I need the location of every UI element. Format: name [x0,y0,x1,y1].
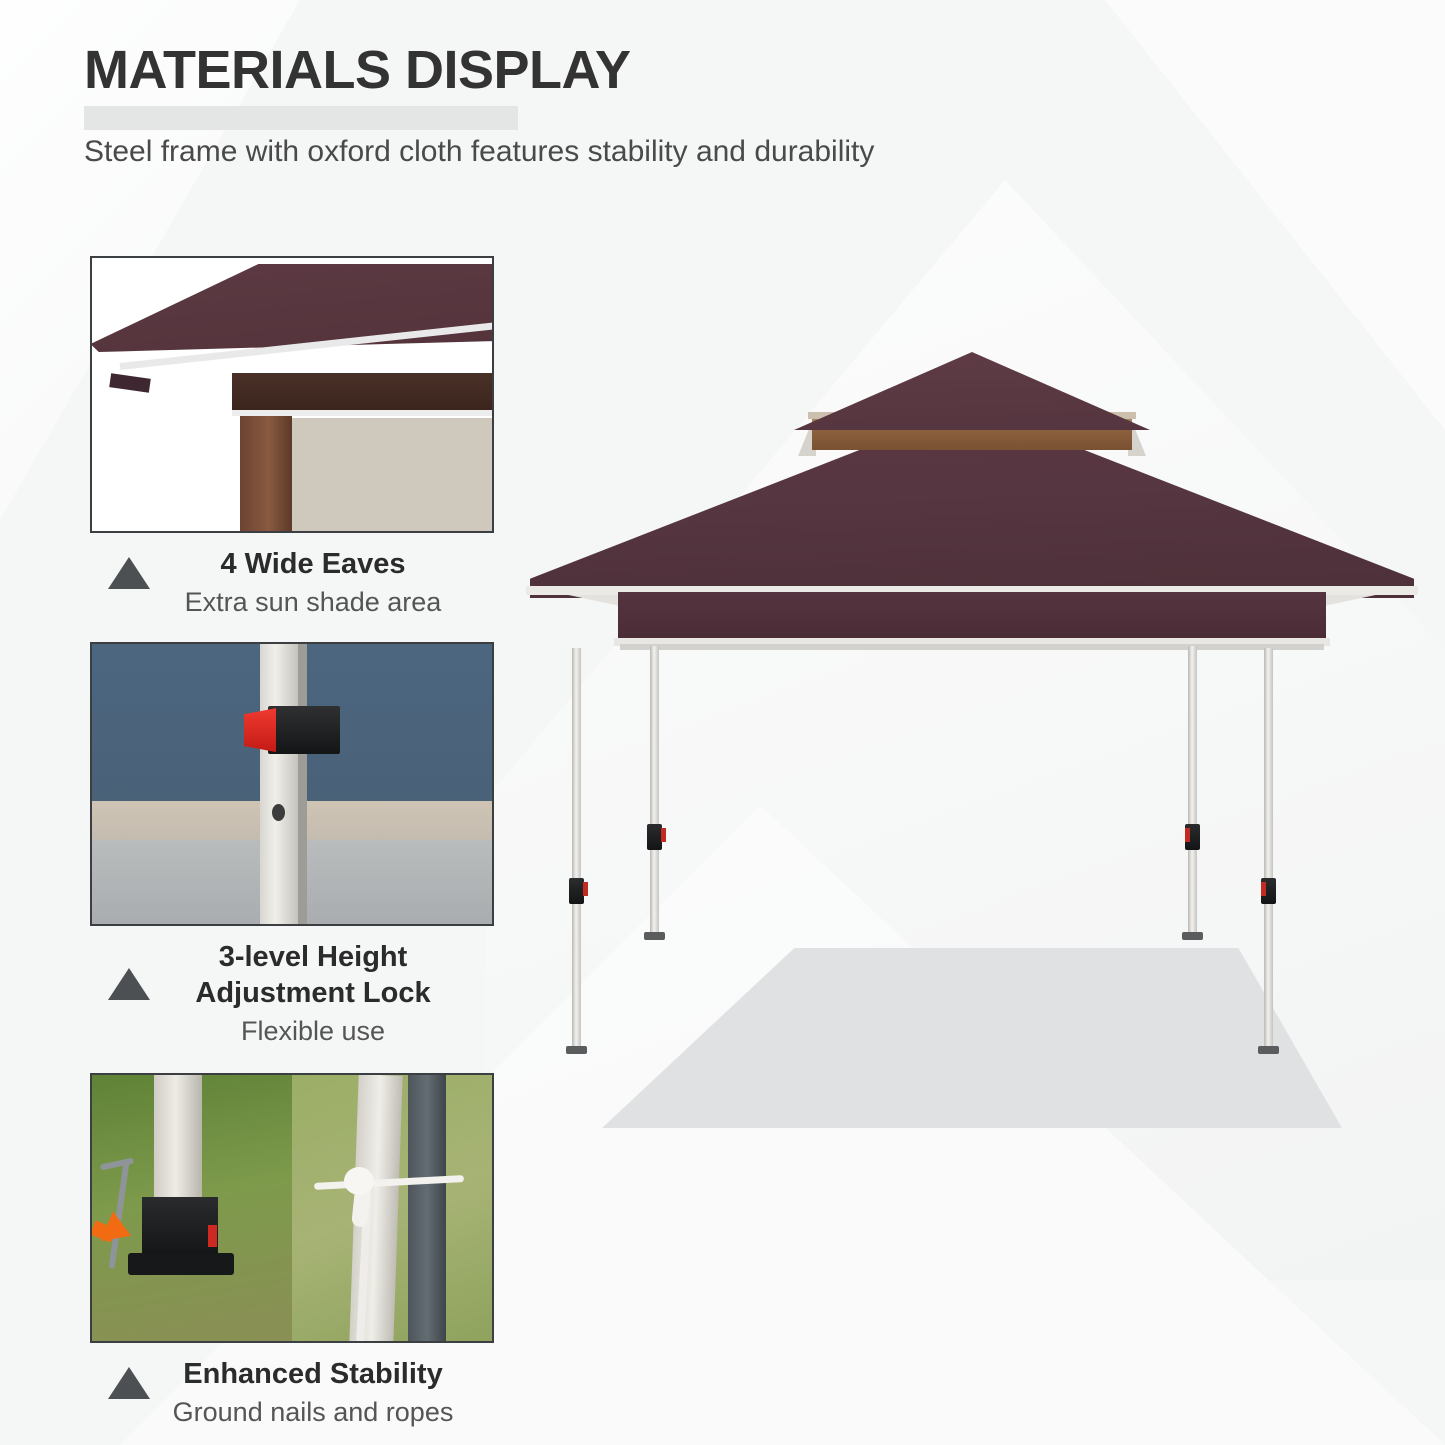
feature-subtitle: Extra sun shade area [90,586,494,620]
feature-list: 4 Wide Eaves Extra sun shade area 3-leve… [90,256,494,1430]
feature-item-enhanced-stability: Enhanced Stability Ground nails and rope… [90,1073,494,1430]
leg-adjustment-hole [272,804,285,821]
gazebo-leg-rear-left [650,646,659,936]
title-accent-bar [84,106,518,130]
lock-housing [268,706,340,754]
lock-red-lever-rear-left [661,828,666,842]
feature-subtitle: Flexible use [90,1015,494,1049]
gazebo-leg-front-right [1264,648,1273,1050]
feature-subtitle: Ground nails and ropes [90,1396,494,1430]
page-subtitle: Steel frame with oxford cloth features s… [84,135,874,169]
red-lock-lever-icon [244,708,276,752]
foot-red-tab [208,1225,217,1247]
feature-caption-enhanced-stability: Enhanced Stability Ground nails and rope… [90,1343,494,1430]
triangle-up-icon [108,968,150,1000]
leg-foot-housing [142,1197,218,1259]
guy-rope-pole-dark [408,1075,446,1343]
canopy-valance [618,592,1326,640]
leg-base-plate [128,1253,234,1275]
leg-foot-front-right [1258,1046,1279,1054]
steel-leg-edge [298,644,307,926]
feature-thumbnail-height-lock[interactable] [90,642,494,926]
page-title: MATERIALS DISPLAY [84,42,631,99]
gazebo-leg-bottom [154,1075,202,1207]
guy-rope-knot [344,1167,374,1195]
height-lock-front-left [569,878,584,904]
height-lock-rear-left [647,824,662,850]
feature-item-wide-eaves: 4 Wide Eaves Extra sun shade area [90,256,494,620]
canopy-valance-band [232,373,494,413]
lock-red-lever-front-right [1261,882,1266,896]
title-wrapper: MATERIALS DISPLAY [84,42,631,99]
feature-caption-wide-eaves: 4 Wide Eaves Extra sun shade area [90,533,494,620]
feature-thumbnail-wide-eaves[interactable] [90,256,494,533]
leg-foot-front-left [566,1046,587,1054]
feature-item-height-lock: 3-level Height Adjustment Lock Flexible … [90,642,494,1049]
feature-caption-height-lock: 3-level Height Adjustment Lock Flexible … [90,926,494,1049]
steel-leg-pole [260,644,298,926]
product-illustration-gazebo [512,300,1432,1130]
gazebo-leg-front-left [572,648,581,1050]
feature-title: Enhanced Stability [90,1357,494,1392]
lock-red-lever-rear-right [1185,828,1190,842]
triangle-up-icon [108,1367,150,1399]
frame-crossbar [620,644,1324,650]
page-header: MATERIALS DISPLAY Steel frame with oxfor… [84,42,874,169]
feature-title-line2: Adjustment Lock [90,976,494,1011]
leg-foot-rear-right [1182,932,1203,940]
leg-foot-rear-left [644,932,665,940]
lock-red-lever-front-left [583,882,588,896]
feature-title-line1: 3-level Height [90,940,494,975]
ground-shadow [602,948,1342,1128]
feature-title: 4 Wide Eaves [90,547,494,582]
feature-thumbnail-enhanced-stability[interactable] [90,1073,494,1343]
triangle-up-icon [108,557,150,589]
canopy-side-panel [292,418,494,533]
canopy-corner-post [240,416,292,533]
gazebo-leg-rear-right [1188,646,1197,936]
canopy-upper-roof [794,352,1150,430]
